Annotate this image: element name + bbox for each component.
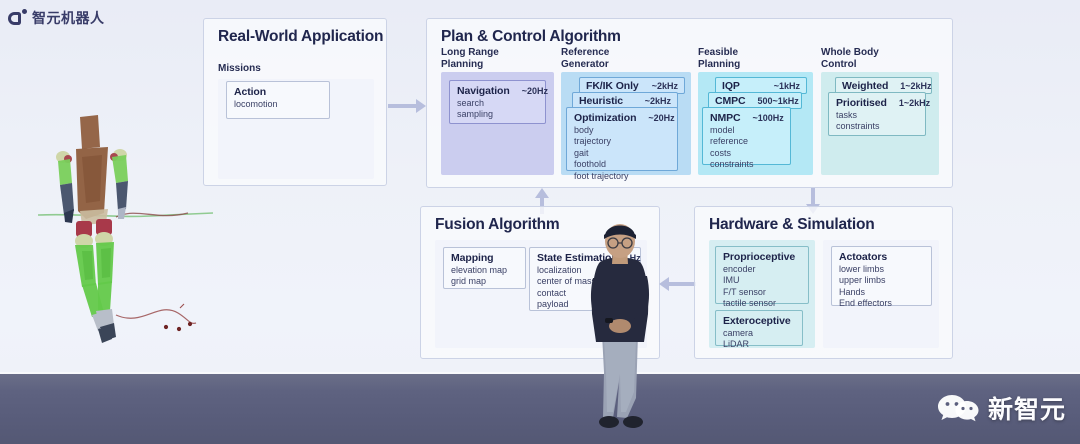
card-weighted-freq: 1~2kHz [888, 81, 931, 91]
card-nmpc-items: model reference costs constraints [710, 125, 783, 171]
arrow-head [659, 277, 669, 291]
subhead-whole-body-control: Whole Body Control [821, 47, 879, 70]
card-fk-ik-only-title: FK/IK Only [586, 80, 639, 92]
card-optimization-title: Optimization [574, 112, 636, 124]
watermark: 新智元 [937, 390, 1066, 426]
brand-logo-text: 智元机器人 [32, 8, 105, 28]
card-nmpc-head: NMPC ~100Hz [710, 112, 783, 124]
stage-floor [0, 374, 1080, 444]
card-optimization-items: body trajectory gait foothold foot traje… [574, 125, 670, 182]
arrow-shaft [388, 104, 417, 108]
watermark-text: 新智元 [988, 390, 1066, 426]
card-exteroceptive-title: Exteroceptive [723, 315, 791, 327]
arrow-head [416, 99, 426, 113]
card-fk-ik-only-freq: ~2kHz [640, 81, 678, 91]
card-exteroceptive[interactable]: Exteroceptive camera LiDAR [715, 310, 803, 346]
card-navigation-freq: ~20Hz [510, 86, 548, 96]
presenter-person [580, 222, 660, 434]
panel-hardware-simulation: Hardware & Simulation Proprioceptive enc… [694, 206, 953, 359]
card-heuristic-title: Heuristic [579, 95, 623, 107]
arrow-realworld-to-plan [388, 98, 426, 114]
card-nmpc-freq: ~100Hz [741, 113, 784, 123]
card-navigation[interactable]: Navigation ~20Hz search sampling [449, 80, 546, 124]
card-prioritised-title: Prioritised [836, 97, 887, 109]
arrow-hardware-to-fusion [659, 276, 696, 292]
panel-plan-control-algorithm: Plan & Control Algorithm Long Range Plan… [426, 18, 953, 188]
subhead-missions: Missions [218, 63, 261, 75]
subhead-feasible-planning: Feasible Planning [698, 47, 740, 70]
subhead-reference-generator: Reference Generator [561, 47, 609, 70]
card-navigation-title: Navigation [457, 85, 510, 97]
panel-title-fusion: Fusion Algorithm [435, 216, 560, 234]
card-optimization-freq: ~20Hz [636, 113, 674, 123]
card-nmpc[interactable]: NMPC ~100Hz model reference costs constr… [702, 107, 791, 165]
card-navigation-head: Navigation ~20Hz [457, 85, 538, 97]
card-nmpc-title: NMPC [710, 112, 741, 124]
card-optimization-head: Optimization ~20Hz [574, 112, 670, 124]
card-cmpc-freq: 500~1kHz [746, 96, 799, 106]
card-actoators[interactable]: Actoators lower limbs upper limbs Hands … [831, 246, 932, 306]
logo-dot-shape [22, 9, 27, 14]
card-cmpc-title: CMPC [715, 95, 746, 107]
card-proprioceptive[interactable]: Proprioceptive encoder IMU F/T sensor ta… [715, 246, 809, 304]
card-fk-ik-only-head: FK/IK Only ~2kHz [586, 80, 678, 92]
presentation-screenshot: Real-World Application Missions Action l… [0, 0, 1080, 444]
card-prioritised-freq: 1~2kHz [887, 98, 930, 108]
card-iqp-head: IQP ~1kHz [722, 80, 800, 92]
card-weighted-title: Weighted [842, 80, 888, 92]
card-iqp-title: IQP [722, 80, 740, 92]
card-iqp-freq: ~1kHz [762, 81, 800, 91]
panel-title-plan-control: Plan & Control Algorithm [441, 28, 621, 46]
card-proprioceptive-head: Proprioceptive [723, 251, 801, 263]
card-mapping-title: Mapping [451, 252, 493, 264]
card-proprioceptive-title: Proprioceptive [723, 251, 795, 263]
card-action-head: Action [234, 86, 322, 98]
panel-title-real-world: Real-World Application [218, 28, 383, 46]
card-heuristic-freq: ~2kHz [633, 96, 671, 106]
card-prioritised-items: tasks constraints [836, 110, 918, 133]
card-mapping[interactable]: Mapping elevation map grid map [443, 247, 526, 289]
panel-title-hardware: Hardware & Simulation [709, 216, 874, 234]
card-actoators-head: Actoators [839, 251, 924, 263]
card-weighted-head: Weighted 1~2kHz [842, 80, 925, 92]
arrow-shaft [811, 188, 815, 205]
agibot-logo-icon [8, 9, 26, 27]
card-cmpc-head: CMPC 500~1kHz [715, 95, 795, 107]
arrow-shaft [668, 282, 696, 286]
card-prioritised-head: Prioritised 1~2kHz [836, 97, 918, 109]
card-optimization[interactable]: Optimization ~20Hz body trajectory gait … [566, 107, 678, 171]
card-prioritised[interactable]: Prioritised 1~2kHz tasks constraints [828, 92, 926, 136]
card-action[interactable]: Action locomotion [226, 81, 330, 119]
card-mapping-items: elevation map grid map [451, 265, 518, 288]
card-exteroceptive-head: Exteroceptive [723, 315, 795, 327]
card-action-title: Action [234, 86, 266, 98]
wechat-icon [937, 392, 981, 424]
robot-skeleton-visualization [38, 95, 213, 350]
card-actoators-title: Actoators [839, 251, 887, 263]
card-mapping-head: Mapping [451, 252, 518, 264]
card-proprioceptive-items: encoder IMU F/T sensor tactile sensor [723, 264, 801, 310]
brand-logo: 智元机器人 [8, 8, 105, 28]
card-action-items: locomotion [234, 99, 322, 110]
panel-real-world-application: Real-World Application Missions Action l… [203, 18, 387, 186]
card-heuristic-head: Heuristic ~2kHz [579, 95, 671, 107]
subhead-long-range-planning: Long Range Planning [441, 47, 499, 70]
card-exteroceptive-items: camera LiDAR [723, 328, 795, 351]
card-actoators-items: lower limbs upper limbs Hands End effect… [839, 264, 924, 310]
card-navigation-items: search sampling [457, 98, 538, 121]
arrow-head [535, 188, 549, 198]
logo-ring-shape [8, 12, 21, 25]
